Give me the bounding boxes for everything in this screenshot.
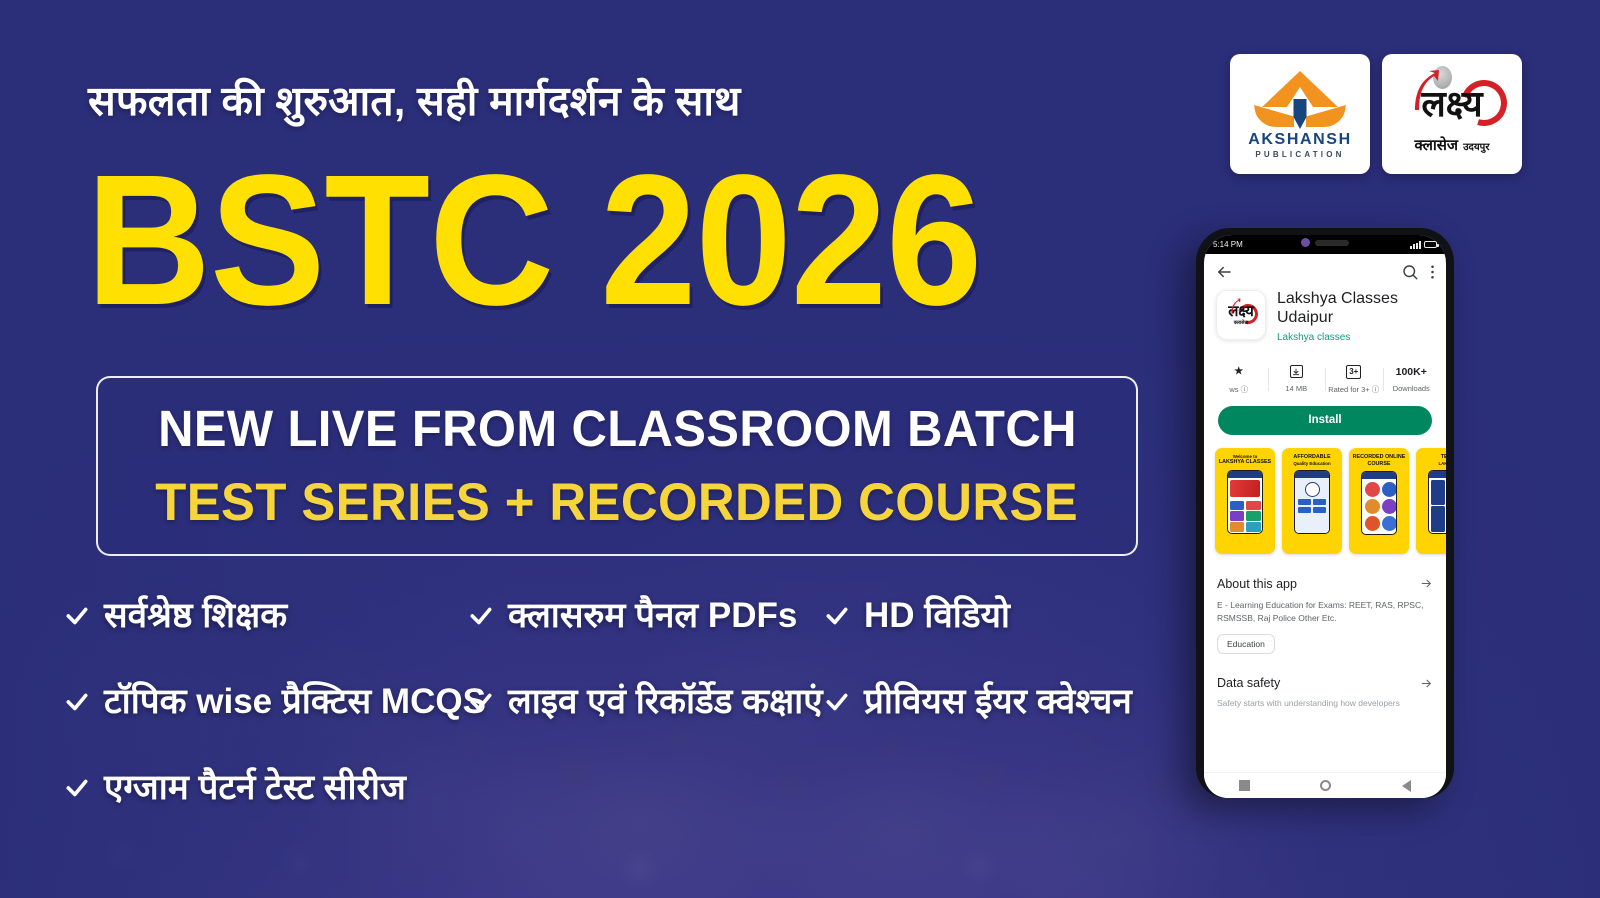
chevron-right-icon[interactable]: [1420, 677, 1433, 690]
lakshya-subtitle: क्लासेज उदयपुर: [1415, 135, 1490, 155]
akshansh-subtitle: PUBLICATION: [1255, 150, 1344, 159]
screenshot-item[interactable]: Welcome toLAKSHYA CLASSES: [1215, 448, 1275, 554]
akshansh-name: AKSHANSH: [1248, 131, 1351, 149]
stat-label: 14 MB: [1270, 384, 1324, 393]
check-icon: [64, 689, 90, 715]
tagline: सफलता की शुरुआत, सही मार्गदर्शन के साथ: [88, 72, 741, 128]
signal-icon: [1410, 241, 1421, 249]
chevron-right-icon[interactable]: [1420, 577, 1433, 590]
status-bar: 5:14 PM: [1204, 235, 1446, 254]
about-section: About this app E - Learning Education fo…: [1204, 565, 1446, 710]
android-nav-bar: [1204, 772, 1446, 798]
check-icon: [64, 775, 90, 801]
list-item: एग्जाम पैटर्न टेस्ट सीरीज: [64, 770, 406, 805]
screenshot-caption: RECORDED ONLINE COURSE: [1353, 454, 1406, 467]
screenshot-caption-small: Quality Education: [1293, 461, 1330, 467]
feature-label: लाइव एवं रिकॉर्डेड कक्षाएं: [508, 684, 823, 719]
back-button-icon[interactable]: [1402, 780, 1411, 792]
banner-content: सफलता की शुरुआत, सही मार्गदर्शन के साथ B…: [0, 0, 1600, 898]
akshansh-mark-icon: [1254, 71, 1346, 129]
arrow-icon: [1229, 298, 1242, 315]
about-title: About this app: [1217, 577, 1297, 591]
feature-list: सर्वश्रेष्ठ शिक्षक क्लासरुम पैनल PDFs HD…: [64, 592, 1174, 842]
app-developer[interactable]: Lakshya classes: [1277, 332, 1434, 343]
list-item: HD विडियो: [824, 598, 1010, 633]
screenshot-item[interactable]: RECORDED ONLINE COURSE: [1349, 448, 1409, 554]
stat-rating: ★ ws ⓘ: [1210, 364, 1268, 395]
data-safety-body: Safety starts with understanding how dev…: [1217, 697, 1433, 710]
stat-content-rating: 3+ Rated for 3+ ⓘ: [1325, 364, 1383, 395]
phone-mockup: 5:14 PM: [1196, 228, 1454, 798]
camera-icon: [1301, 238, 1310, 247]
back-arrow-icon[interactable]: [1215, 263, 1233, 281]
promo-box: NEW LIVE FROM CLASSROOM BATCH TEST SERIE…: [96, 376, 1138, 556]
screenshot-item[interactable]: TESLAKSH: [1416, 448, 1446, 554]
playstore-toolbar: [1204, 254, 1446, 286]
recents-button-icon[interactable]: [1239, 780, 1250, 791]
feature-label: क्लासरुम पैनल PDFs: [508, 598, 797, 633]
screenshot-caption: LAKSHYA CLASSES: [1219, 459, 1271, 465]
stat-downloads: 100K+ Downloads: [1383, 364, 1441, 395]
screenshot-item[interactable]: AFFORDABLEQuality Education: [1282, 448, 1342, 554]
lakshya-sub-city: उदयपुर: [1463, 139, 1489, 153]
lakshya-sub-main: क्लासेज: [1415, 135, 1459, 155]
promo-secondary-line: TEST SERIES + RECORDED COURSE: [156, 472, 1079, 533]
download-icon: [1290, 365, 1303, 378]
about-header[interactable]: About this app: [1217, 568, 1433, 591]
stat-value: 100K+: [1385, 364, 1439, 380]
app-title: Lakshya Classes Udaipur: [1277, 290, 1434, 328]
app-stats-row: ★ ws ⓘ 14 MB 3+ Rated for 3+ ⓘ: [1204, 351, 1446, 404]
data-safety-title: Data safety: [1217, 676, 1280, 690]
battery-icon: [1424, 241, 1437, 248]
status-time: 5:14 PM: [1213, 240, 1243, 249]
promo-banner: सफलता की शुरुआत, सही मार्गदर्शन के साथ B…: [0, 0, 1600, 898]
list-item: क्लासरुम पैनल PDFs: [468, 598, 797, 633]
akshansh-publication-logo: AKSHANSH PUBLICATION: [1230, 54, 1370, 174]
check-icon: [468, 603, 494, 629]
list-item: लाइव एवं रिकॉर्डेड कक्षाएं: [468, 684, 823, 719]
check-icon: [824, 689, 850, 715]
data-safety-header[interactable]: Data safety: [1217, 667, 1433, 690]
lakshya-mark-icon: लक्ष्य: [1393, 74, 1511, 134]
check-icon: [824, 603, 850, 629]
screenshot-caption: AFFORDABLE: [1293, 454, 1330, 460]
status-icons: [1410, 241, 1437, 249]
feature-label: एग्जाम पैटर्न टेस्ट सीरीज: [104, 770, 406, 805]
feature-label: सर्वश्रेष्ठ शिक्षक: [104, 598, 287, 633]
check-icon: [64, 603, 90, 629]
overflow-menu-icon[interactable]: [1430, 263, 1435, 281]
list-item: टॉपिक wise प्रैक्टिस MCQS: [64, 684, 486, 719]
lakshya-classes-logo: लक्ष्य क्लासेज उदयपुर: [1382, 54, 1522, 174]
screenshot-caption: TES: [1441, 454, 1446, 460]
screenshot-caption-small: LAKSH: [1438, 461, 1446, 467]
arrow-icon: [1409, 70, 1443, 112]
stat-label: ws ⓘ: [1212, 384, 1266, 395]
logo-group: AKSHANSH PUBLICATION लक्ष्य क्लासेज उदयप…: [1230, 54, 1522, 174]
feature-label: प्रीवियस ईयर क्वेश्चन: [864, 684, 1132, 719]
category-chip[interactable]: Education: [1217, 634, 1275, 654]
age-rating-badge: 3+: [1346, 365, 1361, 379]
search-icon[interactable]: [1401, 263, 1419, 281]
check-icon: [468, 689, 494, 715]
list-item: सर्वश्रेष्ठ शिक्षक: [64, 598, 287, 633]
feature-label: टॉपिक wise प्रैक्टिस MCQS: [104, 684, 486, 719]
install-button[interactable]: Install: [1218, 406, 1432, 435]
app-icon: लक्ष्य क्लासेज: [1216, 290, 1266, 340]
home-button-icon[interactable]: [1320, 780, 1331, 791]
stat-label: Downloads: [1385, 384, 1439, 393]
phone-screen: 5:14 PM: [1204, 235, 1446, 798]
app-icon-sub: क्लासेज: [1234, 320, 1249, 326]
stat-size: 14 MB: [1268, 364, 1326, 395]
speaker-icon: [1315, 240, 1349, 246]
promo-primary-line: NEW LIVE FROM CLASSROOM BATCH: [158, 399, 1077, 458]
screenshot-carousel[interactable]: Welcome toLAKSHYA CLASSES AFFORDABLEQual…: [1204, 435, 1446, 565]
notch: [1301, 238, 1349, 247]
page-title: BSTC 2026: [86, 152, 981, 331]
star-icon: ★: [1234, 366, 1243, 377]
feature-label: HD विडियो: [864, 598, 1010, 633]
about-body: E - Learning Education for Exams: REET, …: [1217, 599, 1433, 625]
list-item: प्रीवियस ईयर क्वेश्चन: [824, 684, 1132, 719]
stat-label: Rated for 3+ ⓘ: [1327, 384, 1381, 395]
app-header: लक्ष्य क्लासेज Lakshya Classes Udaipur L…: [1204, 286, 1446, 343]
